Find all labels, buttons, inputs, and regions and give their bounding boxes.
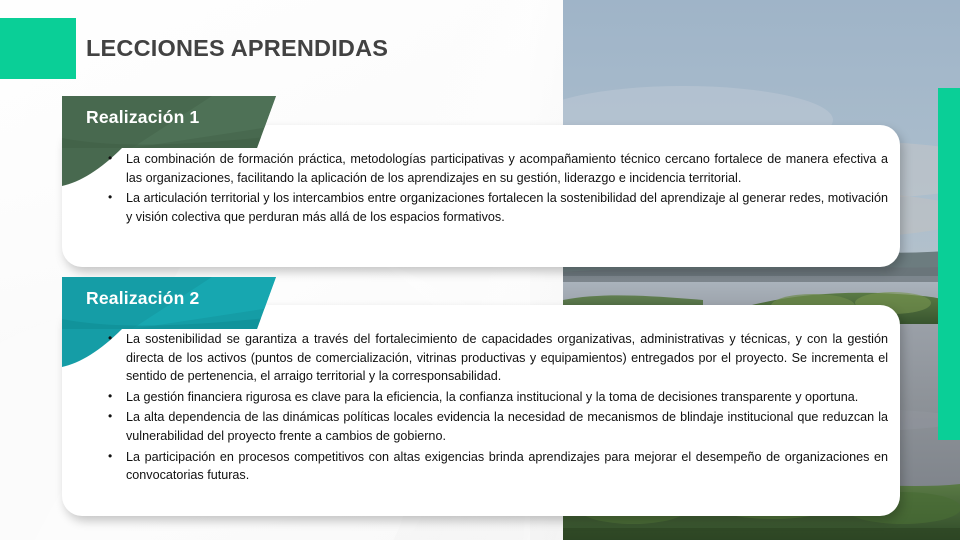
list-item: La alta dependencia de las dinámicas pol…	[96, 408, 888, 445]
page-title: LECCIONES APRENDIDAS	[86, 35, 388, 62]
section-banner-realizacion-1: Realización 1	[62, 96, 276, 148]
green-right-bar	[938, 88, 960, 440]
list-item: La gestión financiera rigurosa es clave …	[96, 388, 888, 407]
section-label-realizacion-1: Realización 1	[86, 107, 199, 128]
green-corner-block	[0, 18, 76, 79]
list-item: La sostenibilidad se garantiza a través …	[96, 330, 888, 386]
section-label-realizacion-2: Realización 2	[86, 288, 199, 309]
slide-lecciones-aprendidas: LECCIONES APRENDIDAS Realización 1 La co…	[0, 0, 960, 540]
list-item: La combinación de formación práctica, me…	[96, 150, 888, 187]
green-corner-block-shape	[0, 18, 76, 79]
green-right-bar-shape	[938, 88, 960, 440]
bullet-list-realizacion-1: La combinación de formación práctica, me…	[96, 150, 888, 228]
list-item: La articulación territorial y los interc…	[96, 189, 888, 226]
section-banner-realizacion-2: Realización 2	[62, 277, 276, 329]
bullet-list-realizacion-2: La sostenibilidad se garantiza a través …	[96, 330, 888, 487]
list-item: La participación en procesos competitivo…	[96, 448, 888, 485]
